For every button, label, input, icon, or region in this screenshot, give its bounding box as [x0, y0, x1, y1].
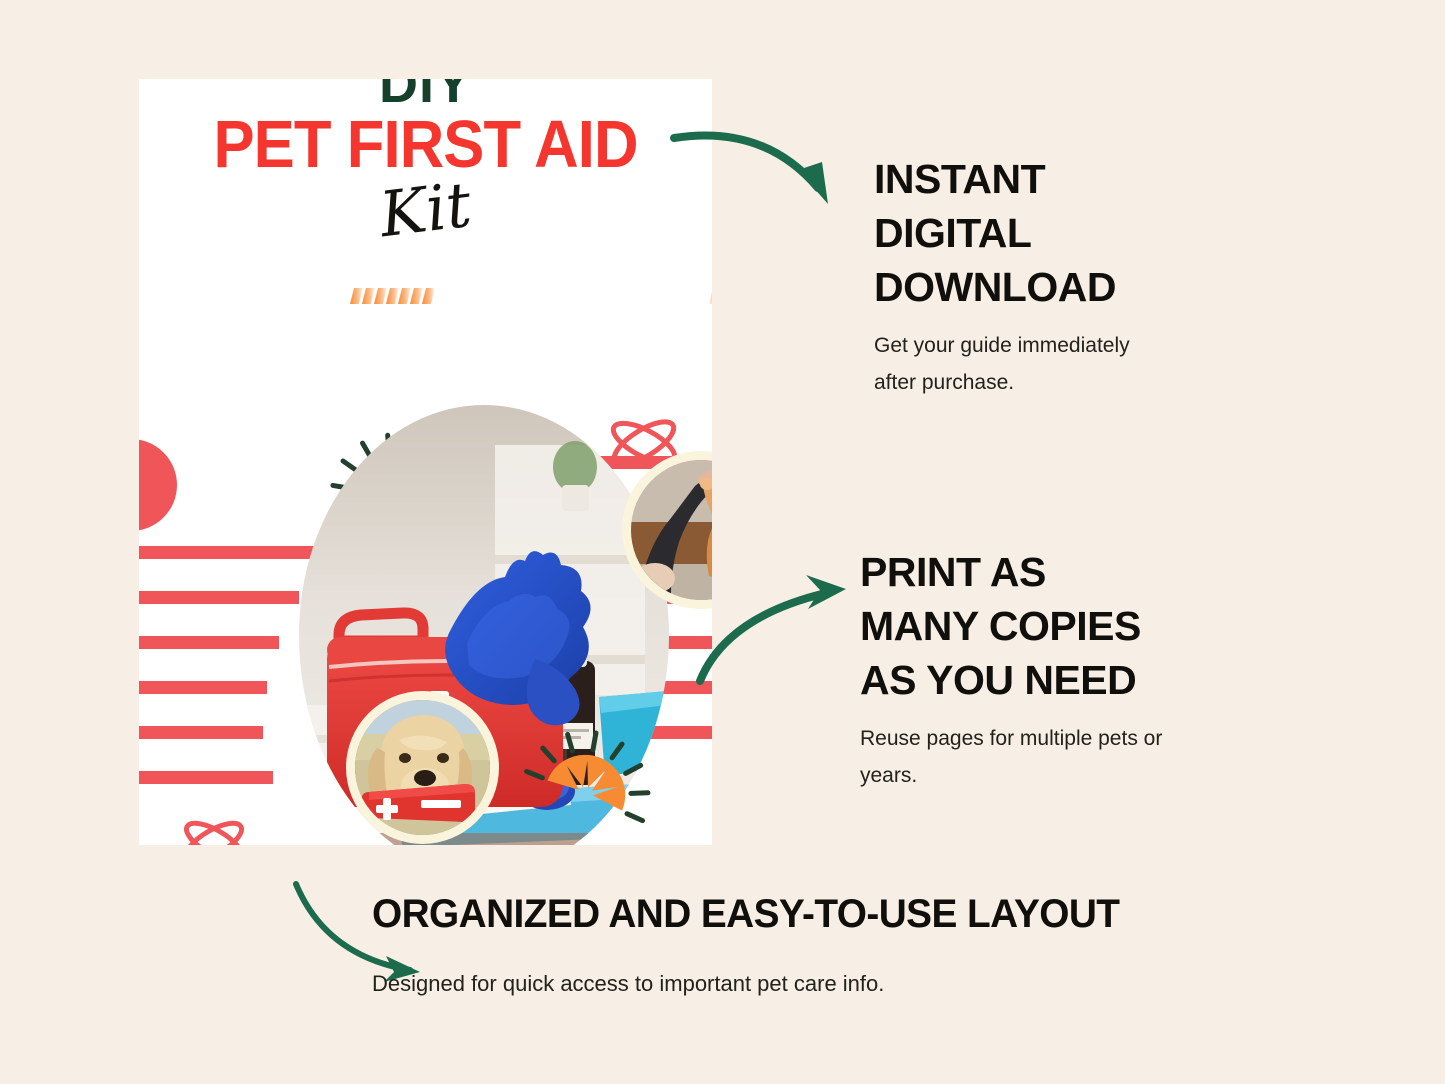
stripe-left — [139, 771, 273, 784]
half-circle-red-left — [139, 439, 177, 531]
stripe-left — [139, 726, 263, 739]
sunburst-icon — [515, 725, 655, 845]
feature-body: Designed for quick access to important p… — [372, 965, 1332, 1004]
feature-body: Get your guide immediately after purchas… — [874, 328, 1294, 402]
arrow-to-instant-download — [668, 112, 868, 212]
listing-card: FIRSTAID — [139, 79, 712, 845]
feature-print-as-many-copies: PRINT AS MANY COPIES AS YOU NEED Reuse p… — [860, 545, 1300, 795]
stripe-left — [139, 636, 279, 649]
stripe-left — [139, 591, 299, 604]
feature-heading: ORGANIZED AND EASY-TO-USE LAYOUT — [372, 888, 1303, 941]
feature-heading: INSTANT DIGITAL DOWNLOAD — [874, 152, 1294, 314]
feature-organized-easy-to-use-layout: ORGANIZED AND EASY-TO-USE LAYOUT Designe… — [372, 888, 1332, 1003]
feature-instant-digital-download: INSTANT DIGITAL DOWNLOAD Get your guide … — [874, 152, 1294, 402]
dash-accent-left — [350, 286, 434, 306]
stripe-left — [139, 681, 267, 694]
sparkle-star-icon — [175, 803, 253, 845]
feature-body: Reuse pages for multiple pets or years. — [860, 721, 1300, 795]
dog-photo — [355, 700, 490, 835]
feature-heading: PRINT AS MANY COPIES AS YOU NEED — [860, 545, 1300, 707]
arrow-to-print-copies — [688, 565, 858, 685]
dash-accent-right — [709, 286, 712, 306]
stripe-left — [139, 546, 325, 559]
